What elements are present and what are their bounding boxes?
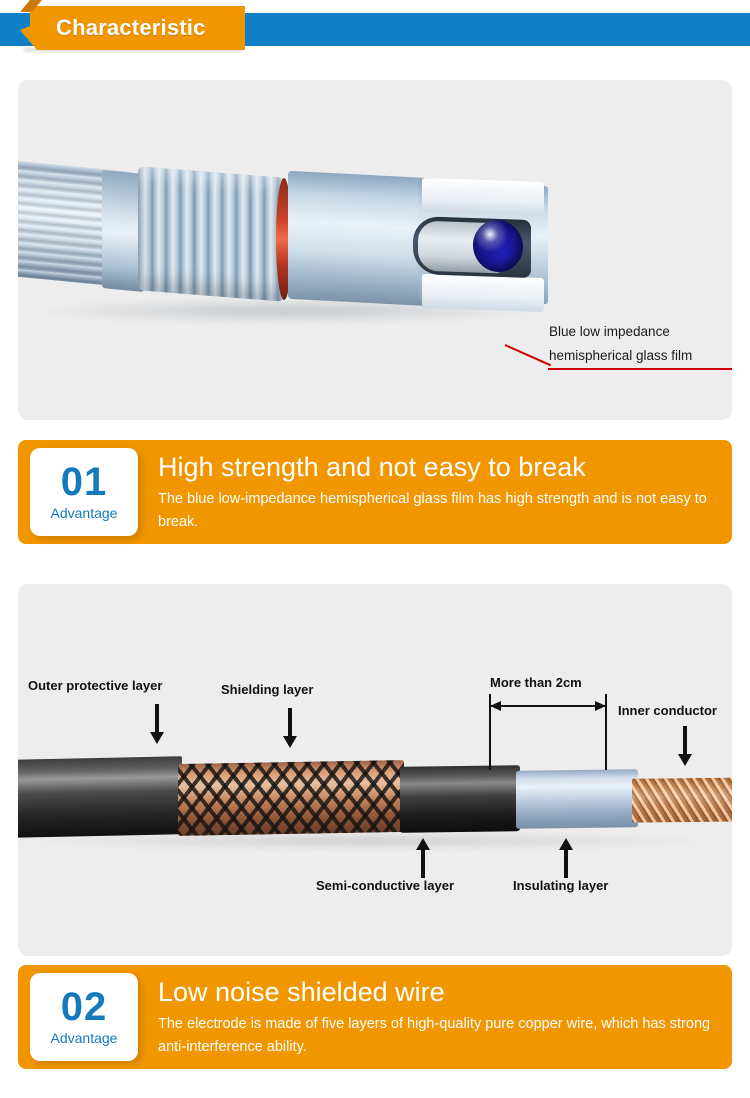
- advantage-badge-02: 02 Advantage: [30, 973, 138, 1061]
- dimension-arrow-right: [595, 701, 606, 711]
- label-inner-conductor: Inner conductor: [618, 703, 717, 718]
- cable-inner-conductor: [632, 777, 732, 822]
- page-header: Characteristic: [0, 0, 750, 62]
- advantage-description: The electrode is made of five layers of …: [158, 1013, 724, 1059]
- arrow-shielding-layer: [283, 708, 297, 748]
- cable-outer-protective-layer: [18, 756, 182, 838]
- header-section-tab: Characteristic: [20, 6, 245, 50]
- advantage-description: The blue low-impedance hemispherical gla…: [158, 488, 724, 534]
- advantage-badge-01: 01 Advantage: [30, 448, 138, 536]
- advantage-word: Advantage: [51, 504, 118, 522]
- arrow-semi-conductive-layer: [416, 838, 430, 880]
- cable-illustration: Outer protective layer Shielding layer M…: [18, 584, 732, 956]
- label-insulating-layer: Insulating layer: [513, 878, 608, 893]
- label-shielding-layer: Shielding layer: [221, 682, 313, 697]
- probe-photo-panel: Blue low impedance hemispherical glass f…: [18, 80, 732, 420]
- advantage-title: Low noise shielded wire: [158, 975, 445, 1009]
- callout-underline: [548, 368, 732, 370]
- probe-threaded-section: [138, 166, 284, 301]
- advantage-banner-01: 01 Advantage High strength and not easy …: [18, 440, 732, 544]
- cable-insulating-layer: [516, 769, 638, 828]
- advantage-number: 02: [61, 987, 108, 1027]
- arrow-outer-protective-layer: [150, 704, 164, 744]
- page-title: Characteristic: [56, 15, 206, 41]
- advantage-number: 01: [61, 462, 108, 502]
- probe-callout-label: Blue low impedance hemispherical glass f…: [549, 320, 732, 368]
- dimension-arrow-left: [490, 701, 501, 711]
- cable-shielding-layer: [178, 760, 404, 836]
- dimension-line: [491, 705, 605, 707]
- callout-line-2: hemispherical glass film: [549, 344, 732, 368]
- arrow-insulating-layer: [559, 838, 573, 880]
- advantage-banner-02: 02 Advantage Low noise shielded wire The…: [18, 965, 732, 1069]
- probe-cage-slot-top: [422, 178, 544, 216]
- callout-line-1: Blue low impedance: [549, 320, 732, 344]
- cable-semi-conductive-layer: [400, 765, 520, 833]
- cable-diagram-panel: Outer protective layer Shielding layer M…: [18, 584, 732, 956]
- advantage-word: Advantage: [51, 1029, 118, 1047]
- label-semi-conductive-layer: Semi-conductive layer: [316, 878, 454, 893]
- probe-cage-slot-bottom: [422, 274, 544, 312]
- blue-glass-bulb: [473, 219, 523, 273]
- arrow-inner-conductor: [678, 726, 692, 768]
- label-dimension-more-than-2cm: More than 2cm: [490, 675, 582, 690]
- label-outer-protective-layer: Outer protective layer: [28, 678, 162, 693]
- advantage-title: High strength and not easy to break: [158, 450, 586, 484]
